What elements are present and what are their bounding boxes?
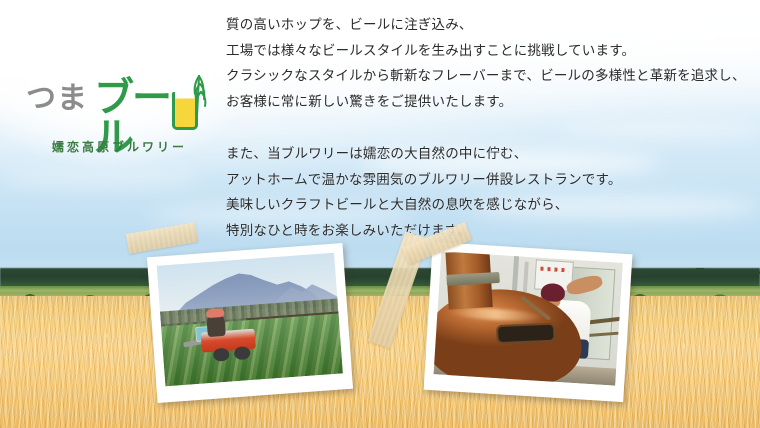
- kettle-hatch: [498, 325, 553, 342]
- logo-text-tsuma: つま: [26, 84, 88, 114]
- photo-farming-image: [157, 253, 343, 387]
- brand-logo[interactable]: つま ブール 嬬恋高原ブルワリー: [22, 72, 207, 172]
- copy-line: 質の高いホップを、ビールに注ぎ込み、: [226, 13, 756, 39]
- copy-line: アットホームで温かな雰囲気のブルワリー併設レストランです。: [226, 168, 756, 194]
- photo-brewing-image: [434, 251, 623, 385]
- crop-rows: [161, 313, 343, 386]
- logo-wordmark: つま ブール: [22, 72, 207, 134]
- copy-line: 特別なひと時をお楽しみいただけます。: [226, 219, 756, 245]
- copy-line: 工場では様々なビールスタイルを生み出すことに挑戦しています。: [226, 39, 756, 65]
- photo-brewing[interactable]: [424, 242, 633, 402]
- wheat-stalk-icon: [188, 70, 214, 118]
- copy-line: クラシックなスタイルから斬新なフレーバーまで、ビールの多様性と革新を追求し、: [226, 64, 756, 90]
- photo-farming[interactable]: [147, 243, 353, 403]
- copy-line: お客様に常に新しい驚きをご提供いたします。: [226, 90, 756, 116]
- paragraph-2: また、当ブルワリーは嬬恋の大自然の中に佇む、 アットホームで温かな雰囲気のブルワ…: [226, 142, 756, 244]
- copy-line: また、当ブルワリーは嬬恋の大自然の中に佇む、: [226, 142, 756, 168]
- logo-subtitle: 嬬恋高原ブルワリー: [32, 138, 207, 155]
- copy-line: 美味しいクラフトビールと大自然の息吹を感じながら、: [226, 193, 756, 219]
- farmer-hat: [206, 308, 224, 318]
- paragraph-1: 質の高いホップを、ビールに注ぎ込み、 工場では様々なビールスタイルを生み出すこと…: [226, 13, 756, 115]
- horizon-treeline: [0, 268, 760, 288]
- intro-copy: 質の高いホップを、ビールに注ぎ込み、 工場では様々なビールスタイルを生み出すこと…: [226, 13, 756, 244]
- hero-banner: つま ブール 嬬恋高原ブルワリー 質の高いホップを、ビールに注ぎ込み、 工場では…: [0, 0, 760, 428]
